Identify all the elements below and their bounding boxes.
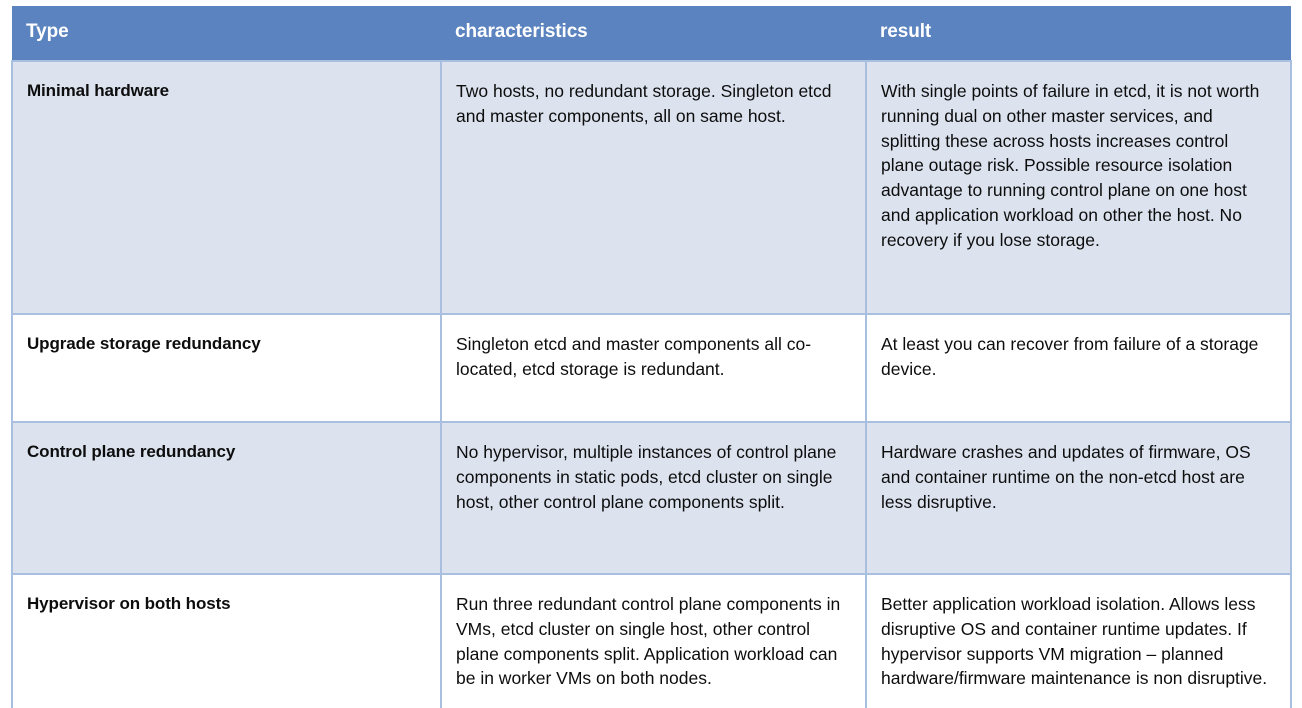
- cell-result: Hardware crashes and updates of firmware…: [866, 422, 1291, 574]
- table-body: Minimal hardware Two hosts, no redundant…: [12, 61, 1291, 708]
- table-row: Control plane redundancy No hypervisor, …: [12, 422, 1291, 574]
- cell-type: Minimal hardware: [12, 61, 441, 314]
- cell-characteristics-text: No hypervisor, multiple instances of con…: [456, 440, 847, 515]
- cell-type: Upgrade storage redundancy: [12, 314, 441, 422]
- cell-result-text: Better application workload isolation. A…: [881, 592, 1272, 691]
- cell-characteristics: Run three redundant control plane compon…: [441, 574, 866, 708]
- cell-type: Control plane redundancy: [12, 422, 441, 574]
- table-header: Type characteristics result: [12, 6, 1291, 61]
- cell-type-text: Hypervisor on both hosts: [27, 592, 422, 616]
- cell-result-text: At least you can recover from failure of…: [881, 332, 1272, 382]
- cell-result-text: Hardware crashes and updates of firmware…: [881, 440, 1272, 515]
- cell-characteristics-text: Singleton etcd and master components all…: [456, 332, 847, 382]
- column-header-type: Type: [12, 6, 441, 61]
- page-root: Type characteristics result Minimal hard…: [0, 0, 1302, 708]
- table-row: Hypervisor on both hosts Run three redun…: [12, 574, 1291, 708]
- table-row: Minimal hardware Two hosts, no redundant…: [12, 61, 1291, 314]
- column-header-characteristics: characteristics: [441, 6, 866, 61]
- cell-characteristics: Singleton etcd and master components all…: [441, 314, 866, 422]
- table-row: Upgrade storage redundancy Singleton etc…: [12, 314, 1291, 422]
- cell-type-text: Upgrade storage redundancy: [27, 332, 422, 356]
- cell-type-text: Control plane redundancy: [27, 440, 422, 464]
- cell-result: With single points of failure in etcd, i…: [866, 61, 1291, 314]
- comparison-table: Type characteristics result Minimal hard…: [11, 6, 1292, 708]
- cell-type: Hypervisor on both hosts: [12, 574, 441, 708]
- cell-type-text: Minimal hardware: [27, 79, 422, 103]
- cell-characteristics-text: Two hosts, no redundant storage. Singlet…: [456, 79, 847, 129]
- cell-characteristics-text: Run three redundant control plane compon…: [456, 592, 847, 691]
- column-header-result: result: [866, 6, 1291, 61]
- cell-result: Better application workload isolation. A…: [866, 574, 1291, 708]
- cell-characteristics: No hypervisor, multiple instances of con…: [441, 422, 866, 574]
- cell-result: At least you can recover from failure of…: [866, 314, 1291, 422]
- cell-characteristics: Two hosts, no redundant storage. Singlet…: [441, 61, 866, 314]
- cell-result-text: With single points of failure in etcd, i…: [881, 79, 1272, 253]
- table-header-row: Type characteristics result: [12, 6, 1291, 61]
